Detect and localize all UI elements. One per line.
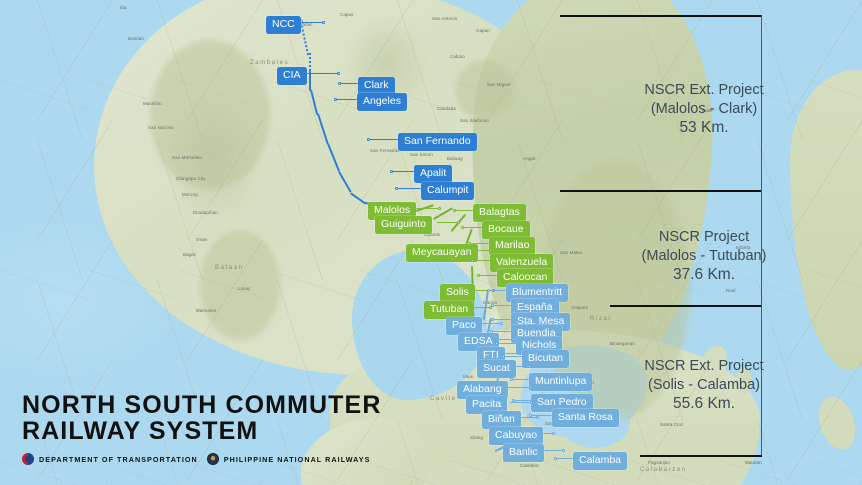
map-place-label: Baliuag <box>447 156 463 161</box>
map-place-label: Imus <box>463 374 473 379</box>
map-place-label: Calamba <box>520 463 539 468</box>
station-label-banlic[interactable]: Banlic <box>503 444 544 462</box>
station-leader-line <box>543 450 564 451</box>
station-dot <box>510 378 513 381</box>
station-label-clark[interactable]: Clark <box>358 77 395 95</box>
station-dot <box>529 414 532 417</box>
station-dot <box>457 221 460 224</box>
map-region-label: Zambales <box>250 60 289 66</box>
station-leader-line <box>369 139 399 140</box>
station-leader-line <box>397 188 422 189</box>
station-dot <box>491 318 494 321</box>
station-label-muntinlupa[interactable]: Muntinlupa <box>529 373 592 391</box>
organization-pnr: PHILIPPINE NATIONAL RAILWAYS <box>207 453 371 465</box>
station-dot <box>495 342 498 345</box>
station-dot <box>552 432 555 435</box>
pnr-seal-icon <box>207 453 219 465</box>
map-place-label: Mauban <box>745 460 762 465</box>
map-place-label: Pagsanjan <box>648 460 670 465</box>
map-place-label: Botolan <box>128 36 144 41</box>
station-leader-line <box>512 379 530 380</box>
station-label-calamba[interactable]: Calamba <box>573 452 627 470</box>
station-label-paco[interactable]: Paco <box>446 317 482 335</box>
project-segment: (Malolos - Tutuban) <box>642 247 767 266</box>
project-divider-2 <box>610 305 762 307</box>
station-dot <box>390 170 393 173</box>
station-dot <box>528 365 531 368</box>
map-place-label: San Fernando <box>370 148 400 153</box>
station-dot <box>536 416 539 419</box>
project-label-malolos-tutuban: NSCR Project (Malolos - Tutuban) 37.6 Km… <box>642 228 767 285</box>
map-place-label: Gapan <box>476 28 490 33</box>
station-label-san-fernando[interactable]: San Fernando <box>398 133 477 151</box>
map-place-label: Angat <box>523 156 535 161</box>
station-dot <box>529 386 532 389</box>
map-place-label: Iba <box>120 5 127 10</box>
station-dot <box>477 274 480 277</box>
map-place-label: Bagac <box>183 252 196 257</box>
project-divider-1 <box>560 190 762 192</box>
station-label-tutuban[interactable]: Tutuban <box>424 301 474 319</box>
project-name: NSCR Ext. Project <box>644 357 763 376</box>
station-leader-line <box>437 222 459 223</box>
station-dot <box>337 72 340 75</box>
infographic-map: IbaBotolanMasinlocSan NarcisoSan Marceli… <box>0 0 862 485</box>
dotr-seal-icon <box>22 453 34 465</box>
station-label-cabuyao[interactable]: Cabuyao <box>489 427 543 445</box>
project-label-solis-calamba: NSCR Ext. Project (Solis - Calamba) 55.6… <box>644 357 763 414</box>
station-label-marilao[interactable]: Marilao <box>489 237 535 255</box>
organization-dotr: DEPARTMENT OF TRANSPORTATION <box>22 453 198 465</box>
station-dot <box>491 304 494 307</box>
map-place-label: Cabiao <box>450 54 465 59</box>
station-leader-line <box>455 210 474 211</box>
map-place-label: Orani <box>196 237 208 242</box>
map-place-label: San Ildefonso <box>460 118 489 123</box>
project-segment: (Solis - Calamba) <box>644 376 763 395</box>
station-leader-line <box>489 290 507 291</box>
organization-name: DEPARTMENT OF TRANSPORTATION <box>39 455 198 464</box>
map-place-label: San Simon <box>410 152 433 157</box>
title-line-1: NORTH SOUTH COMMUTER <box>22 391 381 419</box>
station-dot <box>502 355 505 358</box>
station-label-solis[interactable]: Solis <box>440 284 475 302</box>
station-label-cia[interactable]: CIA <box>277 67 307 85</box>
station-dot <box>471 259 474 262</box>
station-label-santa-rosa[interactable]: Santa Rosa <box>552 409 619 427</box>
station-leader-line <box>531 415 553 416</box>
map-region-label: Calabarzon <box>640 467 687 473</box>
map-place-label: Real <box>726 288 736 293</box>
organization-row: DEPARTMENT OF TRANSPORTATION PHILIPPINE … <box>22 453 381 465</box>
rail-dotted-ncc-2 <box>309 53 311 71</box>
map-place-label: Antipolo <box>571 305 588 310</box>
project-length: 37.6 Km. <box>642 265 767 285</box>
title-block: NORTH SOUTH COMMUTER RAILWAY SYSTEM DEPA… <box>22 393 381 465</box>
map-place-label: Silang <box>470 435 483 440</box>
project-segment: (Malolos - Clark) <box>644 100 763 119</box>
station-dot <box>562 449 565 452</box>
station-label-ncc[interactable]: NCC <box>266 16 301 34</box>
map-place-label: Santa Cruz <box>660 422 683 427</box>
organization-name: PHILIPPINE NATIONAL RAILWAYS <box>224 455 371 464</box>
station-leader-line <box>508 387 531 388</box>
project-divider-bottom <box>640 455 762 457</box>
station-leader-line <box>336 99 358 100</box>
station-label-balagtas[interactable]: Balagtas <box>473 204 526 222</box>
map-place-label: San Antonio <box>432 16 457 21</box>
station-leader-line <box>493 305 512 306</box>
page-title: NORTH SOUTH COMMUTER RAILWAY SYSTEM <box>22 393 381 444</box>
station-dot <box>461 226 464 229</box>
map-region-label: Cavite <box>430 396 457 402</box>
station-dot <box>530 401 533 404</box>
station-dot <box>334 98 337 101</box>
station-dot <box>322 21 325 24</box>
station-leader-line <box>303 73 339 74</box>
station-leader-line <box>392 171 415 172</box>
title-line-2: RAILWAY SYSTEM <box>22 417 258 445</box>
station-leader-line <box>497 343 517 344</box>
station-dot <box>487 289 490 292</box>
map-place-label: Limay <box>238 286 250 291</box>
station-dot <box>512 338 515 341</box>
station-leader-line <box>504 356 523 357</box>
project-name: NSCR Project <box>642 228 767 247</box>
project-name: NSCR Ext. Project <box>644 81 763 100</box>
map-place-label: San Mateo <box>560 250 583 255</box>
station-dot <box>367 138 370 141</box>
map-place-label: Masinloc <box>143 101 162 106</box>
station-label-guiguinto[interactable]: Guiguinto <box>375 216 432 234</box>
map-place-label: Mariveles <box>196 308 216 313</box>
station-leader-line <box>493 319 512 320</box>
project-length: 55.6 Km. <box>644 394 763 414</box>
station-dot <box>489 249 492 252</box>
station-dot <box>453 209 456 212</box>
map-place-label: Binangonan <box>610 341 635 346</box>
station-label-meycauayan[interactable]: Meycauayan <box>406 244 478 262</box>
station-leader-line <box>414 208 440 209</box>
station-label-sucat[interactable]: Sucat <box>477 360 516 378</box>
station-leader-line <box>473 260 491 261</box>
station-dot <box>554 457 557 460</box>
map-place-label: Capas <box>340 12 353 17</box>
station-leader-line <box>479 275 498 276</box>
station-dot <box>438 207 441 210</box>
map-place-label: Morong <box>182 192 198 197</box>
project-label-malolos-clark: NSCR Ext. Project (Malolos - Clark) 53 K… <box>644 81 763 138</box>
station-label-apalit[interactable]: Apalit <box>414 165 452 183</box>
station-label-bocaue[interactable]: Bocaue <box>482 221 530 239</box>
station-leader-line <box>340 83 359 84</box>
project-length: 53 Km. <box>644 118 763 138</box>
project-divider-top <box>560 15 762 17</box>
map-place-label: San Miguel <box>487 82 510 87</box>
station-label-angeles[interactable]: Angeles <box>357 93 407 111</box>
map-region-label: Bataan <box>215 265 244 271</box>
station-label-calumpit[interactable]: Calumpit <box>421 182 474 200</box>
station-leader-line <box>298 22 324 23</box>
station-dot <box>338 82 341 85</box>
station-leader-line <box>463 227 483 228</box>
map-place-label: Candaba <box>437 106 456 111</box>
station-label-bi-an[interactable]: Biñan <box>482 411 521 429</box>
map-region-label: Rizal <box>590 316 611 322</box>
map-place-label: San Narciso <box>148 125 174 130</box>
map-place-label: Olongapo City <box>176 176 206 181</box>
station-dot <box>500 322 503 325</box>
station-leader-line <box>556 458 574 459</box>
map-place-label: San Marcelino <box>172 155 202 160</box>
map-place-label: Dinalupihan <box>193 210 218 215</box>
station-leader-line <box>510 402 532 403</box>
station-dot <box>395 187 398 190</box>
